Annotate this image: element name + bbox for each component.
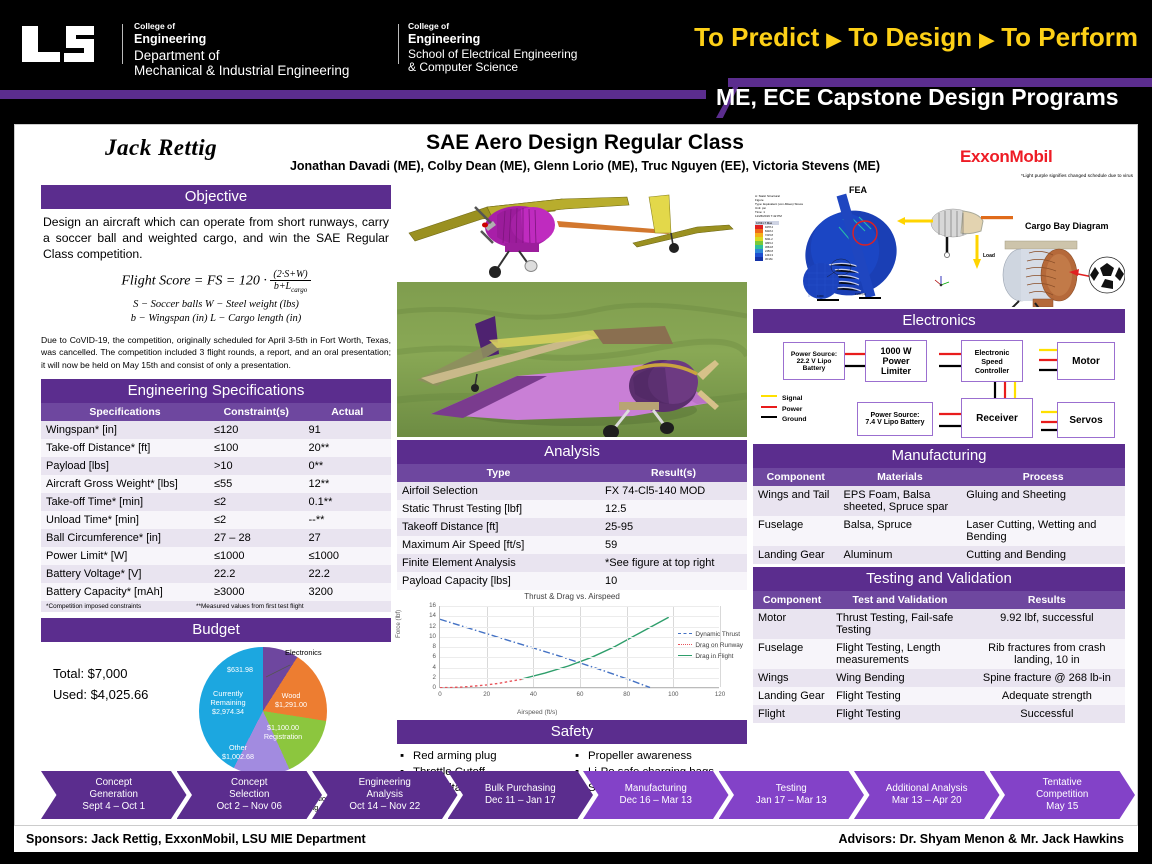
sponsor-signature: Jack Rettig (105, 135, 217, 161)
dept2-line1: College of (408, 22, 577, 32)
battery-main-l1: Power Source: (791, 351, 837, 358)
table-cell: Flight Testing (831, 705, 969, 723)
gridline-horizontal (440, 657, 719, 658)
electronics-heading: Electronics (753, 309, 1125, 333)
timeline-step-line: Concept (231, 777, 268, 789)
formula-legend-line1: S − Soccer balls W − Steel weight (lbs) (41, 298, 391, 312)
specs-header-row: Specifications Constraint(s) Actual (41, 403, 391, 421)
formula-fraction: (2·S+W) b+Lcargo (270, 269, 310, 294)
legend-line-marker (678, 633, 692, 634)
table-cell: Aluminum (839, 546, 962, 564)
timeline-step[interactable]: ConceptSelectionOct 2 – Nov 06 (177, 771, 323, 819)
svg-text:0.200 (m): 0.200 (m) (855, 292, 866, 296)
manufacturing-table: Component Materials Process Wings and Ta… (753, 468, 1125, 564)
pie-callout-line (265, 664, 291, 678)
footer-sponsors: Sponsors: Jack Rettig, ExxonMobil, LSU M… (26, 832, 366, 846)
table-row: Ball Circumference* [in]27 – 2827 (41, 529, 391, 547)
table-cell: 91 (304, 421, 392, 439)
table-row: FuselageBalsa, SpruceLaser Cutting, Wett… (753, 516, 1125, 546)
table-row: Finite Element Analysis*See figure at to… (397, 554, 747, 572)
table-cell: Battery Voltage* [V] (41, 565, 209, 583)
table-cell: Wings and Tail (753, 486, 839, 516)
objective-heading: Objective (41, 185, 391, 209)
table-row: Static Thrust Testing [lbf]12.5 (397, 500, 747, 518)
x-tick-label: 100 (668, 691, 678, 698)
pie-label-remaining-value: $2,974.34 (203, 708, 253, 717)
table-cell: Flight (753, 705, 831, 723)
column-right: FEA Cargo Bay Diagram A: Static Structur… (753, 185, 1125, 723)
wire-swatch (761, 395, 777, 397)
timeline-step-line: Dec 11 – Jan 17 (485, 795, 556, 807)
formula-legend: S − Soccer balls W − Steel weight (lbs) … (41, 298, 391, 326)
battery-main-box: Power Source: 22.2 V Lipo Battery (783, 342, 845, 380)
table-row: WingsWing BendingSpine fracture @ 268 lb… (753, 669, 1125, 687)
table-cell: ≤1000 (209, 547, 304, 565)
receiver-box: Receiver (961, 398, 1033, 438)
chart-legend-item: Dynamic Thrust (678, 630, 743, 641)
chart-series-line (440, 679, 522, 687)
pie-label-registration: $1,100.00 Registration (253, 724, 313, 741)
table-row: Aircraft Gross Weight* [lbs]≤5512** (41, 475, 391, 493)
aircraft-cad-render (397, 185, 747, 280)
wire-swatch (761, 406, 777, 408)
author-list: Jonathan Davadi (ME), Colby Dean (ME), G… (215, 159, 955, 173)
svg-text:8418.2: 8418.2 (765, 229, 773, 233)
fea-legend: A: Static Structural Figure Type: Equiva… (755, 194, 804, 261)
pie-label-other: Other $1,002.68 (215, 744, 261, 761)
tagline-predict: To Predict (694, 22, 819, 52)
mfg-col-2: Process (961, 468, 1125, 486)
testing-table: Component Test and Validation Results Mo… (753, 591, 1125, 723)
specs-footnote-2: **Measured values from first test flight (196, 603, 304, 610)
timeline-step[interactable]: Additional AnalysisMar 13 – Apr 20 (854, 771, 1000, 819)
table-cell: Power Limit* [W] (41, 547, 209, 565)
table-cell: Gluing and Sheeting (961, 486, 1125, 516)
testing-header-row: Component Test and Validation Results (753, 591, 1125, 609)
dept-mechanical: College of Engineering Department of Mec… (134, 22, 349, 78)
table-cell: ≤55 (209, 475, 304, 493)
table-cell: Ball Circumference* [in] (41, 529, 209, 547)
analysis-header-row: Type Result(s) (397, 464, 747, 482)
electronics-diagram: Power Source: 22.2 V Lipo Battery 1000 W… (753, 336, 1125, 441)
column-middle: Analysis Type Result(s) Airfoil Selectio… (397, 185, 747, 796)
dept1-line1: College of (134, 22, 349, 32)
timeline-step[interactable]: Bulk PurchasingDec 11 – Jan 17 (448, 771, 594, 819)
timeline-step-line: Selection (229, 789, 269, 801)
table-cell: Balsa, Spruce (839, 516, 962, 546)
y-tick-label: 10 (418, 633, 436, 640)
table-row: Wings and TailEPS Foam, Balsa sheeted, S… (753, 486, 1125, 516)
timeline-step[interactable]: ConceptGenerationSept 4 – Oct 1 (41, 771, 187, 819)
pie-label-wood-value: $1,291.00 (265, 701, 317, 710)
x-tick-label: 0 (438, 691, 441, 698)
x-tick-label: 60 (577, 691, 584, 698)
timeline-step-line: Mar 13 – Apr 20 (892, 795, 962, 807)
svg-text:0.000: 0.000 (817, 294, 824, 298)
table-cell: --** (304, 511, 392, 529)
timeline-step[interactable]: ManufacturingDec 16 – Mar 13 (583, 771, 729, 819)
table-row: FlightFlight TestingSuccessful (753, 705, 1125, 723)
chart-y-axis-label: Force (lbf) (395, 610, 402, 638)
table-row: FuselageFlight Testing, Length measureme… (753, 639, 1125, 669)
gridline-horizontal (440, 637, 719, 638)
pie-label-reg-name: Registration (253, 733, 313, 742)
footer-advisors: Advisors: Dr. Shyam Menon & Mr. Jack Haw… (838, 832, 1124, 846)
legend-line-marker (678, 655, 692, 656)
svg-text:3664.8: 3664.8 (765, 245, 773, 249)
svg-text:Load: Load (983, 253, 995, 259)
table-row: Takeoff Distance [ft]25-95 (397, 518, 747, 536)
timeline-step-line: Sept 4 – Oct 1 (82, 801, 145, 813)
pie-callout-label: Electronics (285, 648, 360, 657)
table-cell: FX 74-Cl5-140 MOD (600, 482, 747, 500)
table-cell: 25-95 (600, 518, 747, 536)
timeline-step-line: Oct 14 – Nov 22 (349, 801, 420, 813)
tagline-perform: To Perform (1001, 22, 1138, 52)
svg-text:4845.2: 4845.2 (765, 241, 773, 245)
formula-legend-line2: b − Wingspan (in) L − Cargo length (in) (41, 312, 391, 326)
thrust-drag-chart: Thrust & Drag vs. Airspeed 0204060801001… (397, 590, 747, 718)
list-item: Propeller awareness (572, 748, 714, 764)
manufacturing-header-row: Component Materials Process (753, 468, 1125, 486)
svg-text:2450.8: 2450.8 (765, 249, 773, 253)
battery-rx-l1: Power Source: (870, 412, 919, 419)
table-cell: 27 (304, 529, 392, 547)
limiter-l3: Limiter (881, 366, 911, 376)
purple-bar-left (0, 90, 706, 99)
x-tick-label: 120 (715, 691, 725, 698)
chart-legend-item: Drag on Runway (678, 641, 743, 652)
table-cell: Finite Element Analysis (397, 554, 600, 572)
specs-col-2: Actual (304, 403, 392, 421)
aircraft-photo (397, 282, 747, 437)
table-cell: EPS Foam, Balsa sheeted, Spruce spar (839, 486, 962, 516)
y-tick-label: 16 (418, 602, 436, 609)
table-row: Battery Capacity* [mAh]≥30003200 (41, 583, 391, 601)
aircraft-photo-svg (397, 282, 747, 437)
timeline-step-line: Manufacturing (625, 783, 687, 795)
y-tick-label: 14 (418, 612, 436, 619)
esc-l2: Speed (981, 357, 1003, 366)
chart-title: Thrust & Drag vs. Airspeed (397, 590, 747, 601)
specs-footnotes: *Competition imposed constraints **Measu… (41, 601, 391, 612)
wire-swatch (761, 416, 777, 418)
lsu-logo (18, 22, 110, 64)
table-cell: Thrust Testing, Fail-safe Testing (831, 609, 969, 639)
header-divider-2 (398, 24, 399, 64)
x-tick-label: 40 (530, 691, 537, 698)
table-cell: Payload [lbs] (41, 457, 209, 475)
table-cell: Flight Testing (831, 687, 969, 705)
table-cell: Battery Capacity* [mAh] (41, 583, 209, 601)
table-cell: Aircraft Gross Weight* [lbs] (41, 475, 209, 493)
table-row: Power Limit* [W]≤1000≤1000 (41, 547, 391, 565)
mfg-col-1: Materials (839, 468, 962, 486)
timeline-step-line: Additional Analysis (886, 783, 968, 795)
y-tick-label: 8 (418, 643, 436, 650)
lsu-logo-mark (18, 22, 110, 64)
y-tick-label: 2 (418, 674, 436, 681)
table-cell: Payload Capacity [lbs] (397, 572, 600, 590)
dept2-line4: & Computer Science (408, 61, 577, 74)
engineering-specs-table: Specifications Constraint(s) Actual Wing… (41, 403, 391, 601)
timeline-step-line: Generation (90, 789, 138, 801)
electronics-legend-item: Power (761, 405, 807, 416)
table-cell: Take-off Distance* [ft] (41, 439, 209, 457)
page-title: SAE Aero Design Regular Class (245, 131, 925, 155)
table-cell: Fuselage (753, 639, 831, 669)
analysis-heading: Analysis (397, 440, 747, 464)
timeline-step-line: Engineering (359, 777, 411, 789)
analysis-col-1: Result(s) (600, 464, 747, 482)
svg-text:9478.4: 9478.4 (765, 225, 773, 229)
table-cell: Flight Testing, Length measurements (831, 639, 969, 669)
table-cell: Landing Gear (753, 687, 831, 705)
list-item: Red arming plug (397, 748, 572, 764)
budget-total: Total: $7,000 (53, 664, 171, 685)
table-row: Payload [lbs]>100** (41, 457, 391, 475)
safety-heading: Safety (397, 720, 747, 744)
tagline: To Predict ▶ To Design ▶ To Perform (694, 22, 1138, 53)
table-cell: ≤120 (209, 421, 304, 439)
x-tick-label: 80 (623, 691, 630, 698)
page-footer: Sponsors: Jack Rettig, ExxonMobil, LSU M… (14, 826, 1138, 852)
table-cell: Wings (753, 669, 831, 687)
battery-rx-l2: 7.4 V Lipo Battery (865, 419, 924, 426)
gridline-horizontal (440, 678, 719, 679)
specs-footnote-1: *Competition imposed constraints (46, 603, 196, 610)
table-row: Unload Time* [min]≤2--** (41, 511, 391, 529)
test-col-1: Test and Validation (831, 591, 969, 609)
svg-text:7215.8: 7215.8 (765, 233, 773, 237)
table-cell: 12.5 (600, 500, 747, 518)
tagline-arrow-2: ▶ (979, 30, 994, 51)
table-cell: 22.2 (304, 565, 392, 583)
electronics-legend: SignalPowerGround (761, 394, 807, 426)
timeline-step-line: Competition (1036, 789, 1088, 801)
electronics-legend-item: Ground (761, 415, 807, 426)
timeline-step-line: Analysis (367, 789, 403, 801)
table-cell: ≤1000 (304, 547, 392, 565)
table-row: Payload Capacity [lbs]10 (397, 572, 747, 590)
table-cell: Successful (969, 705, 1125, 723)
table-cell: Laser Cutting, Wetting and Bending (961, 516, 1125, 546)
limiter-l2: Power (882, 356, 909, 366)
table-cell: 0** (304, 457, 392, 475)
page-header: College of Engineering Department of Mec… (0, 0, 1152, 78)
specs-heading: Engineering Specifications (41, 379, 391, 403)
budget-used: Used: $4,025.66 (53, 685, 171, 706)
table-row: Landing GearAluminumCutting and Bending (753, 546, 1125, 564)
test-col-2: Results (969, 591, 1125, 609)
table-cell: Static Thrust Testing [lbf] (397, 500, 600, 518)
chart-legend-item: Drag in Flight (678, 652, 743, 663)
timeline-step-line: May 15 (1046, 801, 1078, 813)
table-row: Battery Voltage* [V]22.222.2 (41, 565, 391, 583)
aircraft-cad-svg (397, 185, 747, 280)
table-cell: ≤100 (209, 439, 304, 457)
power-limiter-box: 1000 W Power Limiter (865, 340, 927, 382)
exxonmobil-logo: ExxonMobil (960, 147, 1052, 167)
table-cell: Wingspan* [in] (41, 421, 209, 439)
table-cell: Rib fractures from crash landing, 10 in (969, 639, 1125, 669)
dept1-line3: Department of (134, 48, 349, 63)
column-left: Objective Design an aircraft which can o… (41, 185, 391, 812)
table-row: Landing GearFlight TestingAdequate stren… (753, 687, 1125, 705)
y-tick-label: 4 (418, 664, 436, 671)
tagline-arrow-1: ▶ (827, 30, 842, 51)
legend-line-marker (678, 644, 692, 645)
table-row: Take-off Time* [min]≤20.1** (41, 493, 391, 511)
electronics-legend-item: Signal (761, 394, 807, 405)
table-cell: >10 (209, 457, 304, 475)
battery-rx-box: Power Source: 7.4 V Lipo Battery (857, 402, 933, 436)
budget-totals: Total: $7,000 Used: $4,025.66 (41, 642, 171, 706)
table-cell: 12** (304, 475, 392, 493)
formula-denominator: b+Lcargo (270, 281, 310, 294)
formula-numerator: (2·S+W) (270, 269, 310, 281)
capstone-subtitle: ME, ECE Capstone Design Programs (716, 84, 1119, 111)
table-cell: ≥3000 (209, 583, 304, 601)
table-cell: Wing Bending (831, 669, 969, 687)
gridline-horizontal (440, 668, 719, 669)
table-row: MotorThrust Testing, Fail-safe Testing9.… (753, 609, 1125, 639)
timeline-step-line: Tentative (1043, 777, 1082, 789)
svg-text:6011.2: 6011.2 (765, 237, 773, 241)
timeline-note: *Light purple signifies changed schedule… (1021, 174, 1133, 179)
battery-main-l2: 22.2 V Lipo (797, 358, 832, 365)
table-cell: 3200 (304, 583, 392, 601)
fea-figure-area: FEA Cargo Bay Diagram A: Static Structur… (753, 185, 1125, 307)
table-cell: Spine fracture @ 268 lb-in (969, 669, 1125, 687)
timeline-step-line: Testing (776, 783, 807, 795)
formula-lhs: Flight Score = FS = 120 · (121, 274, 267, 289)
table-cell: Airfoil Selection (397, 482, 600, 500)
fea-cargo-svg: A: Static Structural Figure Type: Equiva… (753, 185, 1125, 307)
timeline-step-line: Jan 17 – Mar 13 (756, 795, 827, 807)
dept1-line2: Engineering (134, 32, 349, 46)
analysis-col-0: Type (397, 464, 600, 482)
table-cell: *See figure at top right (600, 554, 747, 572)
limiter-l1: 1000 W (880, 346, 911, 356)
poster-canvas: Jack Rettig SAE Aero Design Regular Clas… (14, 124, 1138, 826)
specs-col-0: Specifications (41, 403, 209, 421)
dept-electrical: College of Engineering School of Electri… (408, 22, 577, 74)
dept2-line2: Engineering (408, 32, 577, 46)
table-cell: Adequate strength (969, 687, 1125, 705)
y-tick-label: 6 (418, 653, 436, 660)
timeline-step[interactable]: TentativeCompetitionMay 15 (990, 771, 1136, 819)
analysis-table: Type Result(s) Airfoil SelectionFX 74-Cl… (397, 464, 747, 590)
pie-label-electronics: $631.98 (227, 666, 253, 675)
gridline-horizontal (440, 688, 719, 689)
specs-col-1: Constraint(s) (209, 403, 304, 421)
timeline-step-line: Bulk Purchasing (485, 783, 556, 795)
svg-text:11/26/2019 7:42 PM: 11/26/2019 7:42 PM (755, 214, 782, 218)
table-cell: 27 – 28 (209, 529, 304, 547)
pie-label-remaining-name: Currently Remaining (203, 690, 253, 708)
pie-label-wood: Wood $1,291.00 (265, 692, 317, 709)
timeline-step[interactable]: TestingJan 17 – Mar 13 (719, 771, 865, 819)
table-cell: Unload Time* [min] (41, 511, 209, 529)
dept1-line4: Mechanical & Industrial Engineering (134, 63, 349, 78)
esc-box: Electronic Speed Controller (961, 340, 1023, 382)
pie-label-other-value: $1,002.68 (215, 753, 261, 762)
esc-l1: Electronic (975, 348, 1010, 357)
table-cell: 59 (600, 536, 747, 554)
table-row: Maximum Air Speed [ft/s]59 (397, 536, 747, 554)
servos-box: Servos (1057, 402, 1115, 438)
timeline-step-line: Dec 16 – Mar 13 (620, 795, 692, 807)
test-col-0: Component (753, 591, 831, 609)
x-tick-label: 20 (483, 691, 490, 698)
svg-text:30 Min: 30 Min (765, 257, 773, 261)
table-row: Wingspan* [in]≤12091 (41, 421, 391, 439)
cargo-bay-label: Cargo Bay Diagram (1025, 221, 1109, 231)
timeline-step-line: Oct 2 – Nov 06 (217, 801, 282, 813)
flight-score-formula: Flight Score = FS = 120 · (2·S+W) b+Lcar… (41, 269, 391, 294)
gridline-horizontal (440, 647, 719, 648)
table-row: Take-off Distance* [ft]≤10020** (41, 439, 391, 457)
table-cell: ≤2 (209, 511, 304, 529)
poster-root: College of Engineering Department of Mec… (0, 0, 1152, 864)
y-tick-label: 12 (418, 623, 436, 630)
formula-den-sub: cargo (291, 286, 307, 294)
timeline-step-line: Concept (96, 777, 133, 789)
gridline-horizontal (440, 627, 719, 628)
table-row: Airfoil SelectionFX 74-Cl5-140 MOD (397, 482, 747, 500)
chart-plot-area: 0204060801001200246810121416 (439, 606, 719, 688)
gridline-horizontal (440, 616, 719, 617)
pie-wrap: $631.98 Wood $1,291.00 $1,100.00 Registr… (167, 642, 362, 792)
table-cell: Motor (753, 609, 831, 639)
svg-text:10631.7 Max: 10631.7 Max (756, 221, 773, 225)
battery-main-l3: Battery (803, 365, 826, 372)
y-tick-label: 0 (418, 684, 436, 691)
table-cell: ≤2 (209, 493, 304, 511)
table-cell: 10 (600, 572, 747, 590)
objective-text: Design an aircraft which can operate fro… (41, 209, 391, 262)
timeline-step[interactable]: EngineeringAnalysisOct 14 – Nov 22 (312, 771, 458, 819)
svg-text:1243.3: 1243.3 (765, 253, 773, 257)
table-cell: Takeoff Distance [ft] (397, 518, 600, 536)
table-cell: Take-off Time* [min] (41, 493, 209, 511)
chart-x-axis-label: Airspeed (ft/s) (517, 709, 557, 716)
project-timeline: ConceptGenerationSept 4 – Oct 1ConceptSe… (41, 771, 1121, 819)
formula-den-main: b+L (274, 281, 291, 292)
mfg-col-0: Component (753, 468, 839, 486)
table-cell: 22.2 (209, 565, 304, 583)
covid-note: Due to CoVID-19, the competition, origin… (41, 334, 391, 371)
header-divider-1 (122, 24, 123, 64)
gridline-horizontal (440, 606, 719, 607)
manufacturing-heading: Manufacturing (753, 444, 1125, 468)
table-cell: 0.1** (304, 493, 392, 511)
chart-legend: Dynamic ThrustDrag on RunwayDrag in Flig… (678, 630, 743, 663)
budget-heading: Budget (41, 618, 391, 642)
motor-box: Motor (1057, 342, 1115, 380)
table-cell: Fuselage (753, 516, 839, 546)
table-cell: Landing Gear (753, 546, 839, 564)
dept2-line3: School of Electrical Engineering (408, 48, 577, 61)
fea-label: FEA (849, 185, 867, 195)
table-cell: 20** (304, 439, 392, 457)
testing-heading: Testing and Validation (753, 567, 1125, 591)
tagline-design: To Design (848, 22, 972, 52)
table-cell: Cutting and Bending (961, 546, 1125, 564)
pie-label-remaining: Currently Remaining $2,974.34 (203, 690, 253, 716)
table-cell: 9.92 lbf, successful (969, 609, 1125, 639)
